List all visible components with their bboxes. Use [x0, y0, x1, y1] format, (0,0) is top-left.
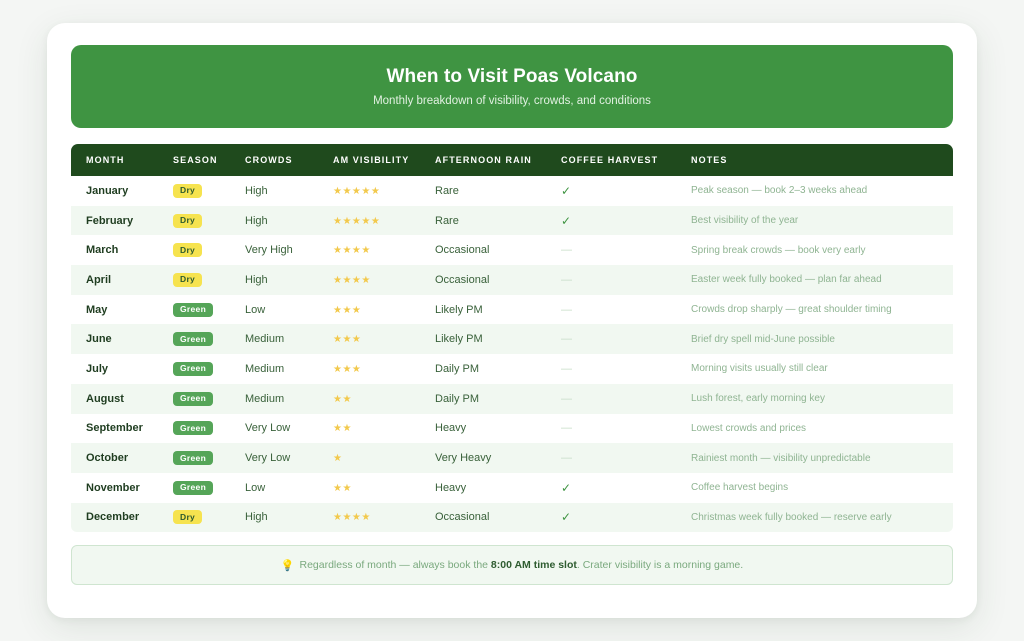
cell-notes: Lowest crowds and prices [691, 414, 953, 444]
cell-crowds: High [245, 265, 333, 295]
cell-notes: Best visibility of the year [691, 206, 953, 236]
cell-month: October [71, 443, 173, 473]
star-rating: ★★★★★ [333, 186, 380, 197]
cell-month: December [71, 503, 173, 533]
star-rating: ★★ [333, 394, 352, 405]
footer-tip-text: Regardless of month — always book the 8:… [299, 559, 743, 571]
cell-coffee-harvest: ✓ [561, 176, 691, 206]
cell-season: Green [173, 443, 245, 473]
cell-afternoon-rain: Likely PM [435, 324, 561, 354]
cell-coffee-harvest: — [561, 384, 691, 414]
dash-icon: — [561, 274, 572, 286]
cell-season: Green [173, 324, 245, 354]
cell-month: June [71, 324, 173, 354]
star-rating: ★★★ [333, 364, 361, 375]
star-rating: ★★★★ [333, 512, 371, 523]
star-rating: ★★★★ [333, 245, 371, 256]
cell-am-visibility: ★★ [333, 384, 435, 414]
cell-coffee-harvest: — [561, 443, 691, 473]
cell-am-visibility: ★★★★★ [333, 176, 435, 206]
cell-season: Green [173, 414, 245, 444]
check-icon: ✓ [561, 510, 571, 524]
cell-afternoon-rain: Likely PM [435, 295, 561, 325]
cell-coffee-harvest: — [561, 354, 691, 384]
season-badge: Green [173, 303, 213, 317]
cell-am-visibility: ★★★ [333, 324, 435, 354]
season-badge: Dry [173, 184, 202, 198]
season-badge: Green [173, 362, 213, 376]
cell-afternoon-rain: Daily PM [435, 384, 561, 414]
visit-table: MONTH SEASON CROWDS AM VISIBILITY AFTERN… [71, 144, 953, 532]
table-row[interactable]: AugustGreenMedium★★Daily PM—Lush forest,… [71, 384, 953, 414]
cell-afternoon-rain: Rare [435, 206, 561, 236]
season-badge: Green [173, 421, 213, 435]
cell-am-visibility: ★★★★ [333, 503, 435, 533]
lightbulb-icon: 💡 [281, 559, 295, 572]
cell-coffee-harvest: — [561, 295, 691, 325]
cell-am-visibility: ★★★★ [333, 235, 435, 265]
page-card: When to Visit Poas Volcano Monthly break… [47, 23, 977, 618]
cell-month: May [71, 295, 173, 325]
cell-season: Dry [173, 265, 245, 295]
column-header-am-visibility[interactable]: AM VISIBILITY [333, 144, 435, 176]
cell-notes: Lush forest, early morning key [691, 384, 953, 414]
dash-icon: — [561, 452, 572, 464]
cell-coffee-harvest: — [561, 324, 691, 354]
cell-season: Dry [173, 206, 245, 236]
table-row[interactable]: SeptemberGreenVery Low★★Heavy—Lowest cro… [71, 414, 953, 444]
dash-icon: — [561, 304, 572, 316]
cell-season: Green [173, 384, 245, 414]
cell-season: Dry [173, 235, 245, 265]
cell-notes: Christmas week fully booked — reserve ea… [691, 503, 953, 533]
star-rating: ★★ [333, 423, 352, 434]
cell-am-visibility: ★★ [333, 414, 435, 444]
cell-notes: Spring break crowds — book very early [691, 235, 953, 265]
check-icon: ✓ [561, 184, 571, 198]
cell-season: Green [173, 473, 245, 503]
table-header: MONTH SEASON CROWDS AM VISIBILITY AFTERN… [71, 144, 953, 176]
column-header-month[interactable]: MONTH [71, 144, 173, 176]
cell-afternoon-rain: Heavy [435, 473, 561, 503]
table-row[interactable]: MayGreenLow★★★Likely PM—Crowds drop shar… [71, 295, 953, 325]
dash-icon: — [561, 422, 572, 434]
star-rating: ★★★★ [333, 275, 371, 286]
cell-notes: Coffee harvest begins [691, 473, 953, 503]
cell-season: Dry [173, 503, 245, 533]
season-badge: Dry [173, 243, 202, 257]
cell-crowds: Low [245, 473, 333, 503]
column-header-coffee-harvest[interactable]: COFFEE HARVEST [561, 144, 691, 176]
cell-coffee-harvest: — [561, 235, 691, 265]
table-row[interactable]: MarchDryVery High★★★★Occasional—Spring b… [71, 235, 953, 265]
footer-tip-highlight: 8:00 AM time slot [491, 559, 577, 571]
star-rating: ★★★ [333, 305, 361, 316]
footer-tip: 💡 Regardless of month — always book the … [71, 545, 953, 585]
season-badge: Dry [173, 214, 202, 228]
cell-am-visibility: ★★★ [333, 295, 435, 325]
dash-icon: — [561, 393, 572, 405]
cell-crowds: Very High [245, 235, 333, 265]
table-row[interactable]: FebruaryDryHigh★★★★★Rare✓Best visibility… [71, 206, 953, 236]
cell-crowds: High [245, 206, 333, 236]
cell-month: July [71, 354, 173, 384]
column-header-notes[interactable]: NOTES [691, 144, 953, 176]
cell-coffee-harvest: — [561, 265, 691, 295]
cell-notes: Easter week fully booked — plan far ahea… [691, 265, 953, 295]
cell-crowds: High [245, 176, 333, 206]
cell-month: September [71, 414, 173, 444]
table-row[interactable]: JanuaryDryHigh★★★★★Rare✓Peak season — bo… [71, 176, 953, 206]
table-body: JanuaryDryHigh★★★★★Rare✓Peak season — bo… [71, 176, 953, 532]
season-badge: Green [173, 451, 213, 465]
cell-coffee-harvest: ✓ [561, 206, 691, 236]
cell-crowds: Medium [245, 384, 333, 414]
table-row[interactable]: OctoberGreenVery Low★Very Heavy—Rainiest… [71, 443, 953, 473]
cell-afternoon-rain: Daily PM [435, 354, 561, 384]
cell-afternoon-rain: Rare [435, 176, 561, 206]
cell-am-visibility: ★★ [333, 473, 435, 503]
dash-icon: — [561, 333, 572, 345]
check-icon: ✓ [561, 214, 571, 228]
cell-am-visibility: ★★★★★ [333, 206, 435, 236]
star-rating: ★★ [333, 483, 352, 494]
cell-afternoon-rain: Occasional [435, 235, 561, 265]
star-rating: ★★★ [333, 334, 361, 345]
cell-month: April [71, 265, 173, 295]
cell-afternoon-rain: Occasional [435, 265, 561, 295]
cell-notes: Brief dry spell mid-June possible [691, 324, 953, 354]
star-rating: ★★★★★ [333, 216, 380, 227]
page-title: When to Visit Poas Volcano [386, 66, 637, 88]
cell-notes: Peak season — book 2–3 weeks ahead [691, 176, 953, 206]
cell-notes: Rainiest month — visibility unpredictabl… [691, 443, 953, 473]
cell-am-visibility: ★★★★ [333, 265, 435, 295]
cell-afternoon-rain: Occasional [435, 503, 561, 533]
cell-coffee-harvest: ✓ [561, 503, 691, 533]
cell-crowds: Very Low [245, 414, 333, 444]
page-subtitle: Monthly breakdown of visibility, crowds,… [373, 95, 651, 107]
cell-season: Green [173, 295, 245, 325]
column-header-afternoon-rain[interactable]: AFTERNOON RAIN [435, 144, 561, 176]
cell-coffee-harvest: ✓ [561, 473, 691, 503]
cell-notes: Morning visits usually still clear [691, 354, 953, 384]
footer-tip-before: Regardless of month — always book the [299, 559, 488, 571]
footer-tip-after: . Crater visibility is a morning game. [577, 559, 743, 571]
column-header-season[interactable]: SEASON [173, 144, 245, 176]
season-badge: Dry [173, 510, 202, 524]
cell-month: November [71, 473, 173, 503]
table-row[interactable]: DecemberDryHigh★★★★Occasional✓Christmas … [71, 503, 953, 533]
cell-coffee-harvest: — [561, 414, 691, 444]
cell-crowds: Low [245, 295, 333, 325]
season-badge: Green [173, 332, 213, 346]
table-row[interactable]: JuneGreenMedium★★★Likely PM—Brief dry sp… [71, 324, 953, 354]
cell-crowds: High [245, 503, 333, 533]
cell-crowds: Medium [245, 354, 333, 384]
cell-month: January [71, 176, 173, 206]
check-icon: ✓ [561, 481, 571, 495]
table-row[interactable]: NovemberGreenLow★★Heavy✓Coffee harvest b… [71, 473, 953, 503]
season-badge: Green [173, 392, 213, 406]
cell-am-visibility: ★★★ [333, 354, 435, 384]
visit-table-container: MONTH SEASON CROWDS AM VISIBILITY AFTERN… [71, 144, 953, 532]
table-row[interactable]: AprilDryHigh★★★★Occasional—Easter week f… [71, 265, 953, 295]
table-row[interactable]: JulyGreenMedium★★★Daily PM—Morning visit… [71, 354, 953, 384]
cell-season: Green [173, 354, 245, 384]
page-banner: When to Visit Poas Volcano Monthly break… [71, 45, 953, 128]
cell-month: February [71, 206, 173, 236]
cell-am-visibility: ★ [333, 443, 435, 473]
cell-crowds: Medium [245, 324, 333, 354]
cell-season: Dry [173, 176, 245, 206]
star-rating: ★ [333, 453, 342, 464]
cell-crowds: Very Low [245, 443, 333, 473]
cell-notes: Crowds drop sharply — great shoulder tim… [691, 295, 953, 325]
dash-icon: — [561, 363, 572, 375]
cell-afternoon-rain: Very Heavy [435, 443, 561, 473]
season-badge: Dry [173, 273, 202, 287]
season-badge: Green [173, 481, 213, 495]
cell-month: March [71, 235, 173, 265]
dash-icon: — [561, 244, 572, 256]
cell-afternoon-rain: Heavy [435, 414, 561, 444]
table-header-row: MONTH SEASON CROWDS AM VISIBILITY AFTERN… [71, 144, 953, 176]
cell-month: August [71, 384, 173, 414]
column-header-crowds[interactable]: CROWDS [245, 144, 333, 176]
